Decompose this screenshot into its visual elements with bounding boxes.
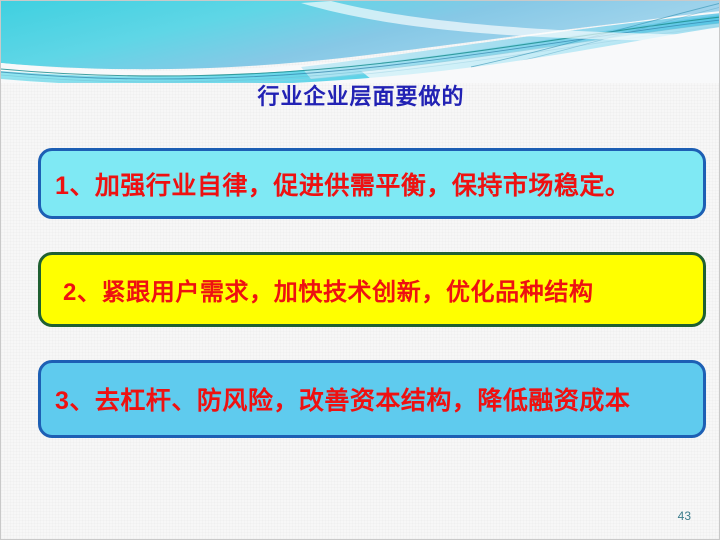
bullet-box-2: 2、紧跟用户需求，加快技术创新，优化品种结构 xyxy=(38,252,706,327)
bullet-box-1-text: 1、加强行业自律，促进供需平衡，保持市场稳定。 xyxy=(55,166,689,202)
slide-canvas: 行业企业层面要做的 1、加强行业自律，促进供需平衡，保持市场稳定。 2、紧跟用户… xyxy=(0,0,720,540)
page-number: 43 xyxy=(678,509,691,523)
bullet-box-3: 3、去杠杆、防风险，改善资本结构，降低融资成本 xyxy=(38,360,706,438)
slide-title: 行业企业层面要做的 xyxy=(1,79,720,111)
bullet-box-1: 1、加强行业自律，促进供需平衡，保持市场稳定。 xyxy=(38,148,706,219)
bullet-box-2-text: 2、紧跟用户需求，加快技术创新，优化品种结构 xyxy=(63,272,681,307)
bullet-box-3-text: 3、去杠杆、防风险，改善资本结构，降低融资成本 xyxy=(55,381,689,417)
decorative-wave-banner xyxy=(1,1,720,81)
